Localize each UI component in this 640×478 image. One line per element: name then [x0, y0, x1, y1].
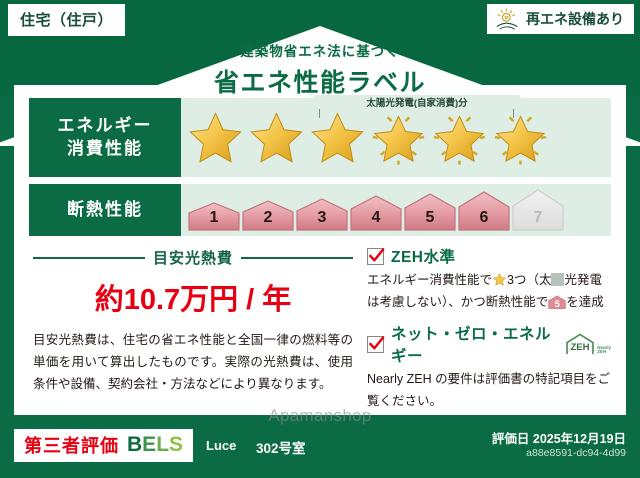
building-type-tag: 住宅（住戸）	[8, 4, 125, 36]
insulation-level-4: 4	[349, 194, 403, 231]
star-2	[246, 107, 307, 169]
bels-letter-e: E	[142, 433, 156, 456]
zeh-panel: ZEH水準 エネルギー消費性能で3つ（太光発電は考慮しない）、かつ断熱性能で5を…	[359, 243, 611, 414]
evaluation-date: 評価日 2025年12月19日	[492, 428, 626, 447]
net-zero-energy-checkbox[interactable]	[367, 336, 384, 353]
insulation-level-1-number: 1	[187, 209, 241, 227]
zeh-standard-checkbox[interactable]	[367, 248, 384, 265]
star-3	[307, 107, 368, 169]
utility-cost-value: 約10.7万円 / 年	[33, 276, 353, 318]
renewable-equipment-badge: 再エネ設備あり	[487, 4, 634, 34]
zeh-standard-head: ZEH水準	[367, 245, 611, 267]
utility-cost-heading-text: 目安光熱費	[153, 247, 233, 268]
zeh-logo-sub: Nearly ZEH	[597, 346, 611, 355]
bels-logo: BELS	[127, 433, 183, 457]
zeh-standard-body-b: 3つ（太	[507, 273, 551, 287]
zeh-house-icon: ZEH	[565, 333, 595, 355]
insulation-level-2: 2	[241, 199, 295, 231]
net-zero-energy-title: ネット・ゼロ・エネルギー	[391, 322, 558, 366]
svg-text:ZEH: ZEH	[571, 342, 590, 353]
insulation-level-3-number: 3	[295, 209, 349, 227]
solar-sun-icon	[495, 8, 521, 30]
insulation-levels-area: 1 2 3	[181, 184, 611, 236]
insulation-label-text: 断熱性能	[67, 199, 143, 222]
bels-letter-s: S	[169, 433, 183, 456]
check-icon	[367, 334, 386, 353]
energy-label-root: 住宅（住戸） 再エネ設備あり 建築物省エネ法に基づく 省エネ性能ラベル エ	[0, 0, 640, 478]
insulation-performance-row: 断熱性能 1	[29, 184, 611, 236]
cost-rule-right	[241, 257, 353, 259]
inline-star-icon	[492, 272, 507, 287]
bels-plate: 第三者評価 BELS	[14, 429, 193, 462]
insulation-level-3: 3	[295, 197, 349, 231]
redacted-character	[551, 273, 564, 286]
insulation-level-6-number: 6	[457, 209, 511, 227]
zeh-standard-item: ZEH水準 エネルギー消費性能で3つ（太光発電は考慮しない）、かつ断熱性能で5を…	[367, 245, 611, 313]
insulation-performance-label: 断熱性能	[29, 184, 181, 236]
label-title-block: 建築物省エネ法に基づく 省エネ性能ラベル	[0, 40, 640, 99]
insulation-level-2-number: 2	[241, 209, 295, 227]
insulation-level-5-number: 5	[403, 209, 457, 227]
utility-cost-note: 目安光熱費は、住宅の省エネ性能と全国一律の燃料等の単価を用いて算出したものです。…	[33, 330, 353, 396]
energy-label-line2: 消費性能	[67, 138, 143, 161]
renewable-equipment-label: 再エネ設備あり	[526, 9, 624, 29]
zeh-logo: ZEH Nearly ZEH	[565, 333, 611, 355]
energy-performance-label: エネルギー 消費性能	[29, 98, 181, 177]
insulation-level-6: 6	[457, 190, 511, 231]
energy-label-line1: エネルギー	[58, 115, 153, 138]
star-rating	[181, 98, 611, 177]
utility-cost-panel: 目安光熱費 約10.7万円 / 年 目安光熱費は、住宅の省エネ性能と全国一律の燃…	[29, 243, 359, 414]
room-number: 302号室	[256, 437, 306, 457]
insulation-level-1: 1	[187, 201, 241, 231]
insulation-level-4-number: 4	[349, 209, 403, 227]
net-zero-energy-head: ネット・ゼロ・エネルギー ZEH Nearly ZEH	[367, 322, 611, 366]
title-main: 省エネ性能ラベル	[0, 63, 640, 99]
building-type-label: 住宅（住戸）	[20, 12, 113, 29]
utility-cost-heading: 目安光熱費	[33, 247, 353, 268]
zeh-standard-title: ZEH水準	[391, 245, 456, 267]
insulation-level-7: 7	[511, 188, 565, 231]
star-1	[185, 107, 246, 169]
property-name: Luce	[206, 438, 236, 453]
energy-performance-row: エネルギー 消費性能 太陽光発電(自家消費)分	[29, 98, 611, 177]
zeh-standard-body-a: エネルギー消費性能で	[367, 273, 492, 287]
star-4-solar	[368, 107, 429, 169]
zeh-standard-body-d: を達成	[566, 295, 604, 309]
insulation-scale: 1 2 3	[181, 184, 611, 236]
label-card: エネルギー 消費性能 太陽光発電(自家消費)分	[14, 85, 626, 415]
bels-letter-l: L	[156, 433, 169, 456]
net-zero-energy-item: ネット・ゼロ・エネルギー ZEH Nearly ZEH	[367, 322, 611, 412]
energy-stars-area: 太陽光発電(自家消費)分	[181, 98, 611, 177]
inline-house-icon: 5	[548, 294, 566, 310]
star-5-solar	[429, 107, 490, 169]
cost-rule-left	[33, 257, 145, 259]
zeh-logo-sub-line2: ZEH	[597, 349, 606, 354]
zeh-standard-body: エネルギー消費性能で3つ（太光発電は考慮しない）、かつ断熱性能で5を達成	[367, 270, 611, 313]
watermark: Apamanshop	[0, 406, 640, 426]
inline-house-number: 5	[548, 297, 566, 313]
evaluation-id: a88e8591-dc94-4d99	[526, 447, 626, 459]
footer-bar: 第三者評価 BELS Luce 302号室 評価日 2025年12月19日 a8…	[0, 420, 640, 478]
insulation-level-7-number: 7	[511, 209, 565, 227]
lower-section: 目安光熱費 約10.7万円 / 年 目安光熱費は、住宅の省エネ性能と全国一律の燃…	[29, 243, 611, 414]
title-subtitle: 建築物省エネ法に基づく	[0, 40, 640, 60]
bels-letter-b: B	[127, 433, 142, 456]
star-6-solar	[490, 107, 551, 169]
check-icon	[367, 246, 386, 265]
bels-jp-label: 第三者評価	[24, 432, 119, 458]
insulation-level-5: 5	[403, 192, 457, 231]
